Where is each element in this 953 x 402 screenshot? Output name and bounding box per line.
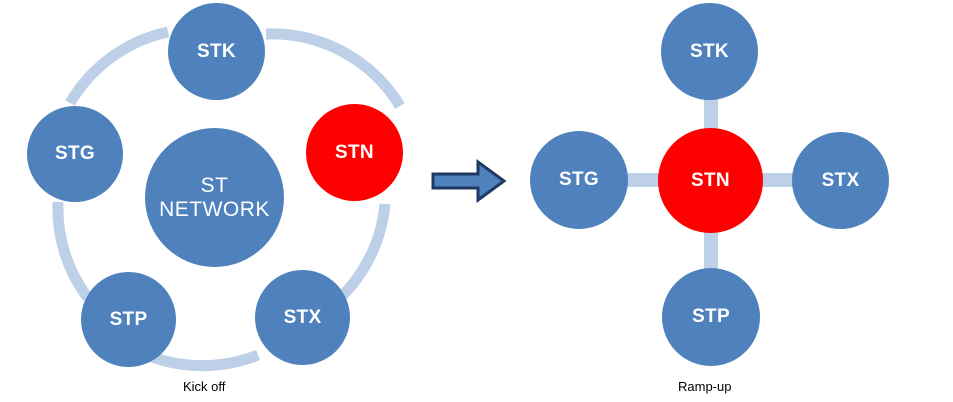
left-hub-node[interactable]: ST NETWORK (145, 128, 284, 267)
left-node-stk[interactable]: STK (168, 3, 265, 100)
transition-arrow (430, 157, 508, 205)
left-node-stx[interactable]: STX (255, 270, 350, 365)
left-diagram-caption: Kick off (183, 379, 225, 394)
right-hub-node[interactable]: STN (658, 128, 763, 233)
left-node-stp[interactable]: STP (81, 272, 176, 367)
left-hub-label: ST NETWORK (159, 174, 270, 221)
left-node-stn-label: STN (335, 142, 374, 163)
left-node-stk-label: STK (197, 41, 236, 62)
right-node-stk[interactable]: STK (661, 3, 758, 100)
right-node-stg-label: STG (559, 169, 599, 190)
right-node-stx-label: STX (822, 170, 860, 191)
left-node-stn[interactable]: STN (306, 104, 403, 201)
right-node-stx[interactable]: STX (792, 132, 889, 229)
arrow-right-icon (430, 157, 508, 205)
left-node-stg[interactable]: STG (27, 106, 123, 202)
left-hub-label-line2: NETWORK (159, 198, 270, 222)
left-hub-label-line1: ST (159, 174, 270, 198)
right-diagram-caption: Ramp-up (678, 379, 731, 394)
right-node-stk-label: STK (690, 41, 729, 62)
left-node-stg-label: STG (55, 143, 95, 164)
right-node-stg[interactable]: STG (530, 131, 628, 229)
left-node-stp-label: STP (110, 309, 148, 330)
diagram-canvas: ST NETWORK STK STN STX STP STG Kick off … (0, 0, 953, 402)
right-hub-label: STN (691, 170, 730, 191)
right-node-stp-label: STP (692, 306, 730, 327)
left-node-stx-label: STX (284, 307, 322, 328)
right-node-stp[interactable]: STP (662, 268, 760, 366)
